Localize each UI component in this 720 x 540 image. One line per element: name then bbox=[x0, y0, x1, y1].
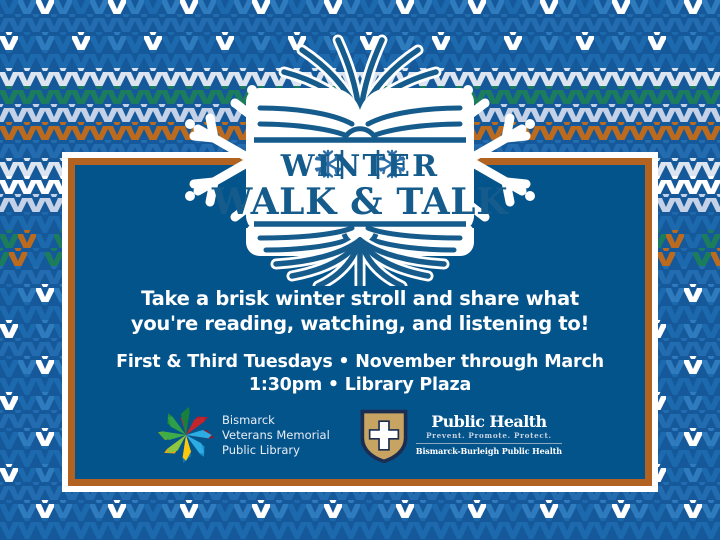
public-health-org: Bismarck-Burleigh Public Health bbox=[416, 446, 562, 457]
public-health-wordmark: Public Health Prevent. Promote. Protect.… bbox=[416, 413, 562, 457]
library-name: Bismarck Veterans Memorial Public Librar… bbox=[222, 413, 330, 458]
shield-cross-icon bbox=[360, 408, 408, 462]
library-name-line-3: Public Library bbox=[222, 443, 330, 458]
details-line-2: 1:30pm • Library Plaza bbox=[75, 374, 645, 397]
public-health-tagline: Prevent. Promote. Protect. bbox=[416, 430, 562, 441]
emblem-line-1: WINTER bbox=[280, 149, 439, 184]
headline-line-2: you're reading, watching, and listening … bbox=[75, 311, 645, 336]
headline-line-1: Take a brisk winter stroll and share wha… bbox=[75, 286, 645, 311]
logo-row: Bismarck Veterans Memorial Public Librar… bbox=[75, 407, 645, 463]
emblem-line-2: WALK & TALK bbox=[211, 181, 509, 223]
public-health-title: Public Health bbox=[416, 413, 562, 430]
public-health-logo: Public Health Prevent. Promote. Protect.… bbox=[360, 408, 562, 462]
library-name-line-1: Bismarck bbox=[222, 413, 330, 428]
library-name-line-2: Veterans Memorial bbox=[222, 428, 330, 443]
library-logo: Bismarck Veterans Memorial Public Librar… bbox=[158, 407, 330, 463]
details-line-1: First & Third Tuesdays • November throug… bbox=[75, 351, 645, 374]
body-copy: Take a brisk winter stroll and share wha… bbox=[75, 286, 645, 397]
winter-walk-talk-emblem: WINTER WALK & TALK bbox=[180, 28, 540, 286]
pinwheel-star-icon bbox=[158, 407, 214, 463]
divider bbox=[416, 443, 562, 444]
